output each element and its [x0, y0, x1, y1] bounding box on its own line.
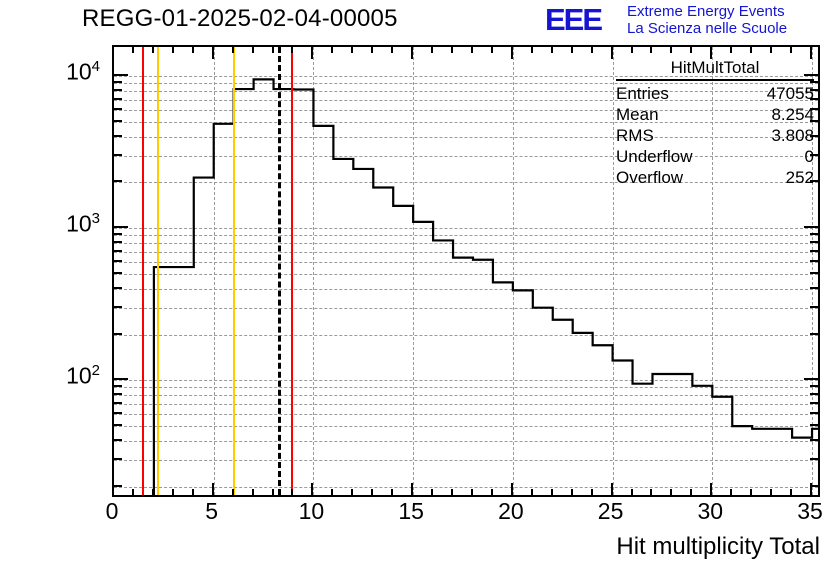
x-tick-minor — [172, 489, 174, 496]
y-tick-minor-right — [810, 402, 818, 404]
x-tick-minor-top — [272, 46, 274, 53]
x-tick-minor-top — [551, 46, 553, 53]
marker-line-mean-line — [278, 47, 281, 495]
x-tick-minor — [730, 489, 732, 496]
y-tick-major — [114, 378, 128, 380]
stats-row: RMS3.808 — [616, 125, 814, 146]
y-tick-minor-right — [810, 233, 818, 235]
x-tick-major — [710, 483, 712, 496]
x-tick-minor-top — [591, 46, 593, 53]
x-tick-minor-top — [152, 46, 154, 53]
eee-logo-line1: Extreme Energy Events — [627, 3, 787, 20]
y-tick-minor-right — [810, 306, 818, 308]
x-tick-minor — [551, 489, 553, 496]
x-tick-major-top — [112, 46, 114, 59]
y-tick-minor-right — [810, 333, 818, 335]
x-tick-minor — [371, 489, 373, 496]
y-tick-minor — [114, 272, 122, 274]
x-tick-label: 0 — [106, 498, 119, 525]
x-tick-label: 35 — [797, 498, 823, 525]
y-tick-minor — [114, 306, 122, 308]
y-tick-minor-right — [810, 385, 818, 387]
y-tick-major — [114, 74, 128, 76]
x-tick-minor-top — [471, 46, 473, 53]
x-tick-minor-top — [451, 46, 453, 53]
marker-line-high-red-threshold — [291, 47, 293, 495]
y-tick-minor — [114, 233, 122, 235]
stats-title: HitMultTotal — [616, 58, 814, 79]
page-title: REGG-01-2025-02-04-00005 — [82, 5, 398, 33]
x-tick-label: 20 — [498, 498, 524, 525]
x-tick-major — [411, 483, 413, 496]
y-tick-label-exponent: 4 — [92, 58, 100, 75]
y-tick-label: 102 — [66, 362, 100, 390]
x-tick-minor — [531, 489, 533, 496]
eee-logo-text: Extreme Energy Events La Scienza nelle S… — [627, 3, 787, 37]
x-tick-major-top — [411, 46, 413, 59]
x-tick-minor-top — [491, 46, 493, 53]
x-tick-minor — [631, 489, 633, 496]
x-tick-minor — [132, 489, 134, 496]
x-tick-minor-top — [232, 46, 234, 53]
x-tick-major-top — [212, 46, 214, 59]
y-tick-major — [114, 226, 128, 228]
y-tick-minor — [114, 98, 122, 100]
y-tick-label-exponent: 2 — [92, 362, 100, 379]
y-tick-minor-right — [810, 485, 818, 487]
stats-row: Overflow252 — [616, 167, 814, 188]
y-tick-minor — [114, 385, 122, 387]
y-tick-minor — [114, 333, 122, 335]
stats-row-value: 252 — [786, 167, 814, 188]
y-tick-minor — [114, 250, 122, 252]
x-tick-minor — [650, 489, 652, 496]
y-tick-minor — [114, 439, 122, 441]
x-tick-minor — [491, 489, 493, 496]
y-tick-label-exponent: 3 — [92, 210, 100, 227]
y-tick-minor — [114, 402, 122, 404]
x-tick-minor-top — [670, 46, 672, 53]
x-tick-minor-top — [351, 46, 353, 53]
y-tick-minor — [114, 241, 122, 243]
stats-rows: Entries47055Mean8.254RMS3.808Underflow0O… — [616, 83, 814, 188]
x-tick-minor-top — [650, 46, 652, 53]
x-tick-minor-top — [431, 46, 433, 53]
x-tick-major — [212, 483, 214, 496]
stats-divider — [616, 79, 814, 81]
y-tick-minor-right — [810, 412, 818, 414]
x-tick-minor — [331, 489, 333, 496]
x-tick-minor — [770, 489, 772, 496]
x-tick-minor — [351, 489, 353, 496]
x-tick-minor — [391, 489, 393, 496]
x-tick-minor — [670, 489, 672, 496]
y-tick-minor-right — [810, 287, 818, 289]
x-tick-minor — [471, 489, 473, 496]
x-tick-major — [511, 483, 513, 496]
y-tick-major-right — [804, 226, 818, 228]
x-tick-label: 30 — [698, 498, 724, 525]
stats-row-key: Overflow — [616, 167, 683, 188]
x-tick-minor-top — [132, 46, 134, 53]
y-tick-label-base: 10 — [66, 211, 92, 237]
y-tick-minor-right — [810, 424, 818, 426]
y-tick-minor-right — [810, 241, 818, 243]
x-tick-minor-top — [252, 46, 254, 53]
x-tick-major — [611, 483, 613, 496]
x-tick-minor-top — [631, 46, 633, 53]
stats-row-value: 47055 — [767, 83, 814, 104]
stats-row-value: 0 — [805, 146, 814, 167]
y-tick-label: 104 — [66, 58, 100, 86]
y-tick-label-base: 10 — [66, 59, 92, 85]
x-tick-minor — [571, 489, 573, 496]
stats-box: HitMultTotal Entries47055Mean8.254RMS3.8… — [616, 58, 814, 188]
x-tick-label: 5 — [205, 498, 218, 525]
eee-logo-line2: La Scienza nelle Scuole — [627, 20, 787, 37]
x-tick-minor-top — [172, 46, 174, 53]
y-tick-label: 103 — [66, 210, 100, 238]
x-tick-minor — [591, 489, 593, 496]
x-tick-minor — [272, 489, 274, 496]
x-tick-label: 15 — [398, 498, 424, 525]
x-tick-minor-top — [690, 46, 692, 53]
x-tick-minor-top — [770, 46, 772, 53]
x-tick-minor-top — [571, 46, 573, 53]
y-tick-minor — [114, 287, 122, 289]
stats-row: Entries47055 — [616, 83, 814, 104]
y-tick-minor-right — [810, 260, 818, 262]
y-tick-minor — [114, 108, 122, 110]
x-tick-label: 25 — [598, 498, 624, 525]
y-tick-minor — [114, 81, 122, 83]
marker-line-low-orange-threshold — [157, 47, 159, 495]
root-canvas: REGG-01-2025-02-04-00005 EEE Extreme Ene… — [0, 0, 836, 572]
y-tick-minor-right — [810, 250, 818, 252]
y-tick-minor — [114, 89, 122, 91]
y-tick-minor — [114, 260, 122, 262]
y-tick-minor — [114, 458, 122, 460]
marker-line-low-red-threshold — [142, 47, 144, 495]
x-tick-major — [311, 483, 313, 496]
x-axis-title: Hit multiplicity Total — [616, 533, 820, 561]
x-tick-minor-top — [291, 46, 293, 53]
x-tick-minor — [291, 489, 293, 496]
stats-row-key: Mean — [616, 104, 659, 125]
x-tick-minor — [750, 489, 752, 496]
stats-row-key: Underflow — [616, 146, 693, 167]
y-tick-minor — [114, 135, 122, 137]
x-tick-minor-top — [531, 46, 533, 53]
x-tick-label: 10 — [299, 498, 325, 525]
x-tick-minor-top — [192, 46, 194, 53]
stats-row-value: 8.254 — [771, 104, 814, 125]
x-tick-minor-top — [750, 46, 752, 53]
stats-row-key: Entries — [616, 83, 669, 104]
x-tick-minor — [431, 489, 433, 496]
x-tick-minor-top — [331, 46, 333, 53]
y-tick-minor — [114, 424, 122, 426]
x-tick-major-top — [611, 46, 613, 59]
x-tick-minor — [690, 489, 692, 496]
x-tick-minor-top — [730, 46, 732, 53]
x-tick-minor — [152, 489, 154, 496]
x-tick-minor — [451, 489, 453, 496]
y-tick-minor-right — [810, 272, 818, 274]
y-tick-minor — [114, 120, 122, 122]
y-tick-minor — [114, 180, 122, 182]
x-tick-minor — [192, 489, 194, 496]
marker-line-mid-orange-threshold — [233, 47, 235, 495]
stats-row: Underflow0 — [616, 146, 814, 167]
x-tick-minor-top — [391, 46, 393, 53]
y-tick-minor — [114, 154, 122, 156]
stats-row-value: 3.808 — [771, 125, 814, 146]
eee-logo-mark: EEE — [545, 3, 601, 37]
stats-row-key: RMS — [616, 125, 654, 146]
y-tick-minor — [114, 485, 122, 487]
stats-row: Mean8.254 — [616, 104, 814, 125]
y-tick-minor — [114, 393, 122, 395]
x-tick-minor — [232, 489, 234, 496]
y-tick-minor-right — [810, 458, 818, 460]
y-tick-minor — [114, 412, 122, 414]
x-tick-minor — [252, 489, 254, 496]
y-tick-label-base: 10 — [66, 363, 92, 389]
y-tick-minor-right — [810, 393, 818, 395]
x-tick-minor — [790, 489, 792, 496]
x-tick-major-top — [311, 46, 313, 59]
y-tick-major-right — [804, 378, 818, 380]
eee-logo: EEE Extreme Energy Events La Scienza nel… — [545, 2, 835, 42]
x-tick-minor-top — [371, 46, 373, 53]
x-tick-major-top — [511, 46, 513, 59]
y-tick-minor-right — [810, 439, 818, 441]
x-tick-minor-top — [790, 46, 792, 53]
